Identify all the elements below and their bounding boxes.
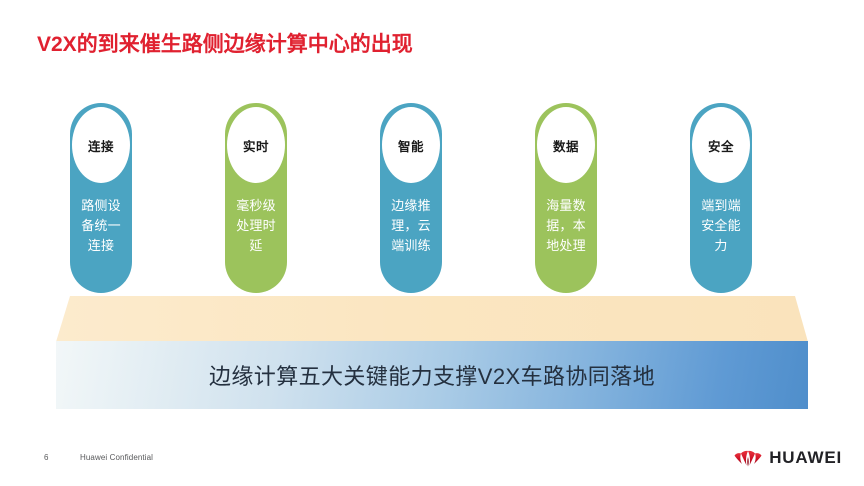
capsule-description: 端到端安全能力 xyxy=(695,196,747,256)
huawei-flower-icon xyxy=(733,445,763,469)
capability-capsule-intelligent: 智能 边缘推理，云端训练 xyxy=(380,103,442,293)
capsule-description: 边缘推理，云端训练 xyxy=(385,196,437,256)
capability-capsule-connect: 连接 路侧设备统一连接 xyxy=(70,103,132,293)
capsule-description: 路侧设备统一连接 xyxy=(75,196,127,256)
capsule-description: 海量数据，本地处理 xyxy=(540,196,592,256)
capsule-title: 连接 xyxy=(70,136,132,155)
platform-top-face-icon xyxy=(0,296,864,342)
footer-page-number: 6 xyxy=(44,453,48,462)
platform-label: 边缘计算五大关键能力支撑V2X车路协同落地 xyxy=(56,341,808,409)
platform-slab: 边缘计算五大关键能力支撑V2X车路协同落地 xyxy=(0,296,864,416)
footer-confidentiality-note: Huawei Confidential xyxy=(80,453,153,462)
capsule-title: 安全 xyxy=(690,136,752,155)
capsule-description: 毫秒级处理时延 xyxy=(230,196,282,256)
capsule-title: 智能 xyxy=(380,136,442,155)
slide-canvas: V2X的到来催生路侧边缘计算中心的出现 连接 路侧设备统一连接 实时 毫秒级处理… xyxy=(0,0,864,486)
capability-capsule-security: 安全 端到端安全能力 xyxy=(690,103,752,293)
huawei-wordmark: HUAWEI xyxy=(769,449,842,466)
capsule-title: 实时 xyxy=(225,136,287,155)
capsule-title: 数据 xyxy=(535,136,597,155)
capability-capsule-realtime: 实时 毫秒级处理时延 xyxy=(225,103,287,293)
huawei-brand-logo: HUAWEI xyxy=(733,445,842,469)
capability-capsule-data: 数据 海量数据，本地处理 xyxy=(535,103,597,293)
